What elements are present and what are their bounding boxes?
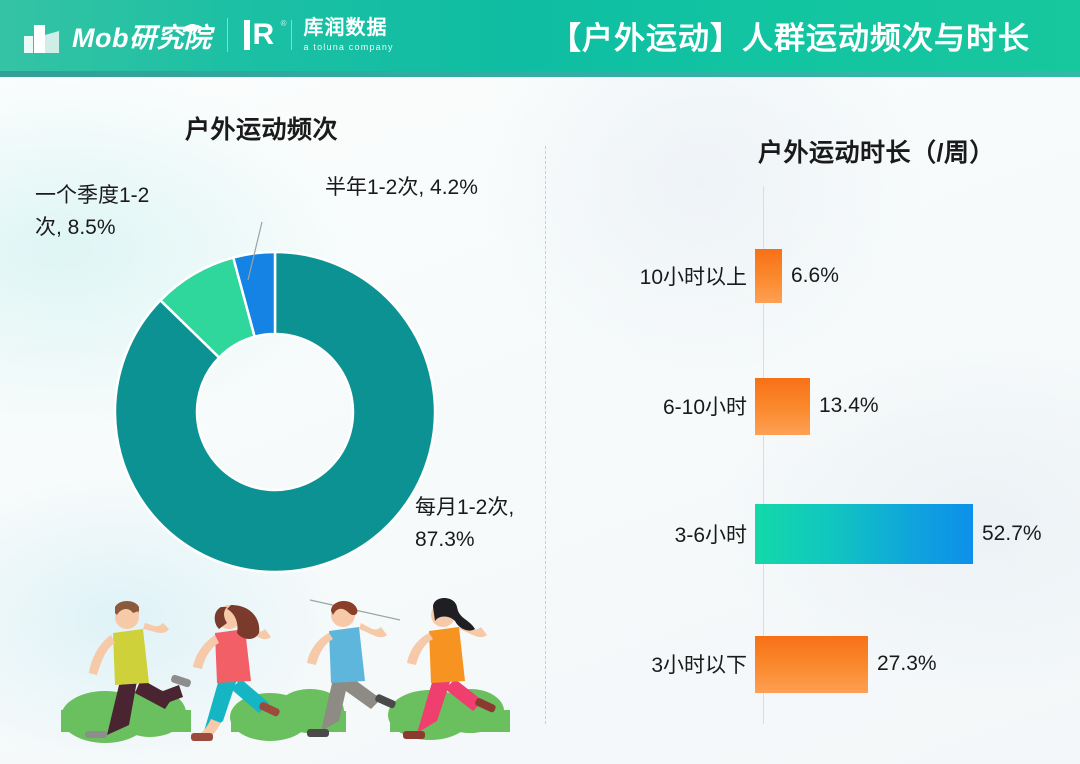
runners-illustration bbox=[45, 585, 545, 745]
bar-fill[interactable] bbox=[755, 504, 973, 564]
bar-category-label: 3小时以下 bbox=[600, 649, 755, 679]
kulun-tagline: a toluna company bbox=[303, 41, 393, 53]
bar-track: 6.6% bbox=[755, 246, 1070, 306]
registered-icon: ® bbox=[281, 19, 287, 28]
bar-chart-title: 户外运动时长（/周） bbox=[758, 133, 995, 169]
mob-logo-icon bbox=[22, 15, 66, 55]
bar-category-label: 10小时以上 bbox=[600, 261, 755, 291]
bar-chart: 10小时以上6.6%6-10小时13.4%3-6小时52.7%3小时以下27.3… bbox=[600, 186, 1070, 726]
panel-divider bbox=[545, 146, 546, 724]
donut-svg bbox=[95, 232, 455, 592]
bar-fill[interactable] bbox=[755, 636, 868, 693]
slide-root: Mob研究院 R ® 库润数据 a toluna company 【户外运动】人… bbox=[0, 0, 1080, 764]
bar-row[interactable]: 10小时以上6.6% bbox=[600, 246, 1070, 306]
donut-label-quarter: 一个季度1-2 次, 8.5% bbox=[35, 180, 210, 244]
logo-divider bbox=[227, 18, 228, 52]
kulun-logo-group: R ® 库润数据 a toluna company bbox=[242, 17, 393, 53]
bar-row[interactable]: 6-10小时13.4% bbox=[600, 376, 1070, 436]
kulun-r-mark-icon: R ® bbox=[242, 17, 282, 53]
page-title: 【户外运动】人群运动频次与时长 bbox=[510, 0, 1070, 71]
donut-label-half-year: 半年1-2次, 4.2% bbox=[325, 172, 545, 204]
kulun-brand-label: 库润数据 bbox=[303, 17, 393, 39]
bar-track: 52.7% bbox=[755, 504, 1070, 564]
bar-row[interactable]: 3小时以下27.3% bbox=[600, 634, 1070, 694]
bar-track: 13.4% bbox=[755, 376, 1070, 436]
kulun-inner-divider bbox=[291, 20, 292, 50]
bar-value-label: 13.4% bbox=[819, 394, 879, 418]
donut-label-monthly: 每月1-2次, 87.3% bbox=[415, 492, 575, 556]
bar-value-label: 52.7% bbox=[982, 522, 1042, 546]
bar-category-label: 3-6小时 bbox=[600, 519, 755, 549]
donut-chart bbox=[95, 232, 455, 592]
bar-value-label: 6.6% bbox=[791, 264, 839, 288]
bar-value-label: 27.3% bbox=[877, 652, 937, 676]
bar-fill[interactable] bbox=[755, 249, 782, 303]
bar-category-label: 6-10小时 bbox=[600, 391, 755, 421]
header-underline bbox=[0, 71, 1080, 77]
kulun-r-glyph: R bbox=[252, 20, 278, 50]
bar-row[interactable]: 3-6小时52.7% bbox=[600, 504, 1070, 564]
bar-fill[interactable] bbox=[755, 378, 810, 435]
donut-chart-title: 户外运动频次 bbox=[185, 110, 338, 146]
logo-group: Mob研究院 R ® 库润数据 a toluna company bbox=[22, 11, 394, 59]
bar-track: 27.3% bbox=[755, 634, 1070, 694]
